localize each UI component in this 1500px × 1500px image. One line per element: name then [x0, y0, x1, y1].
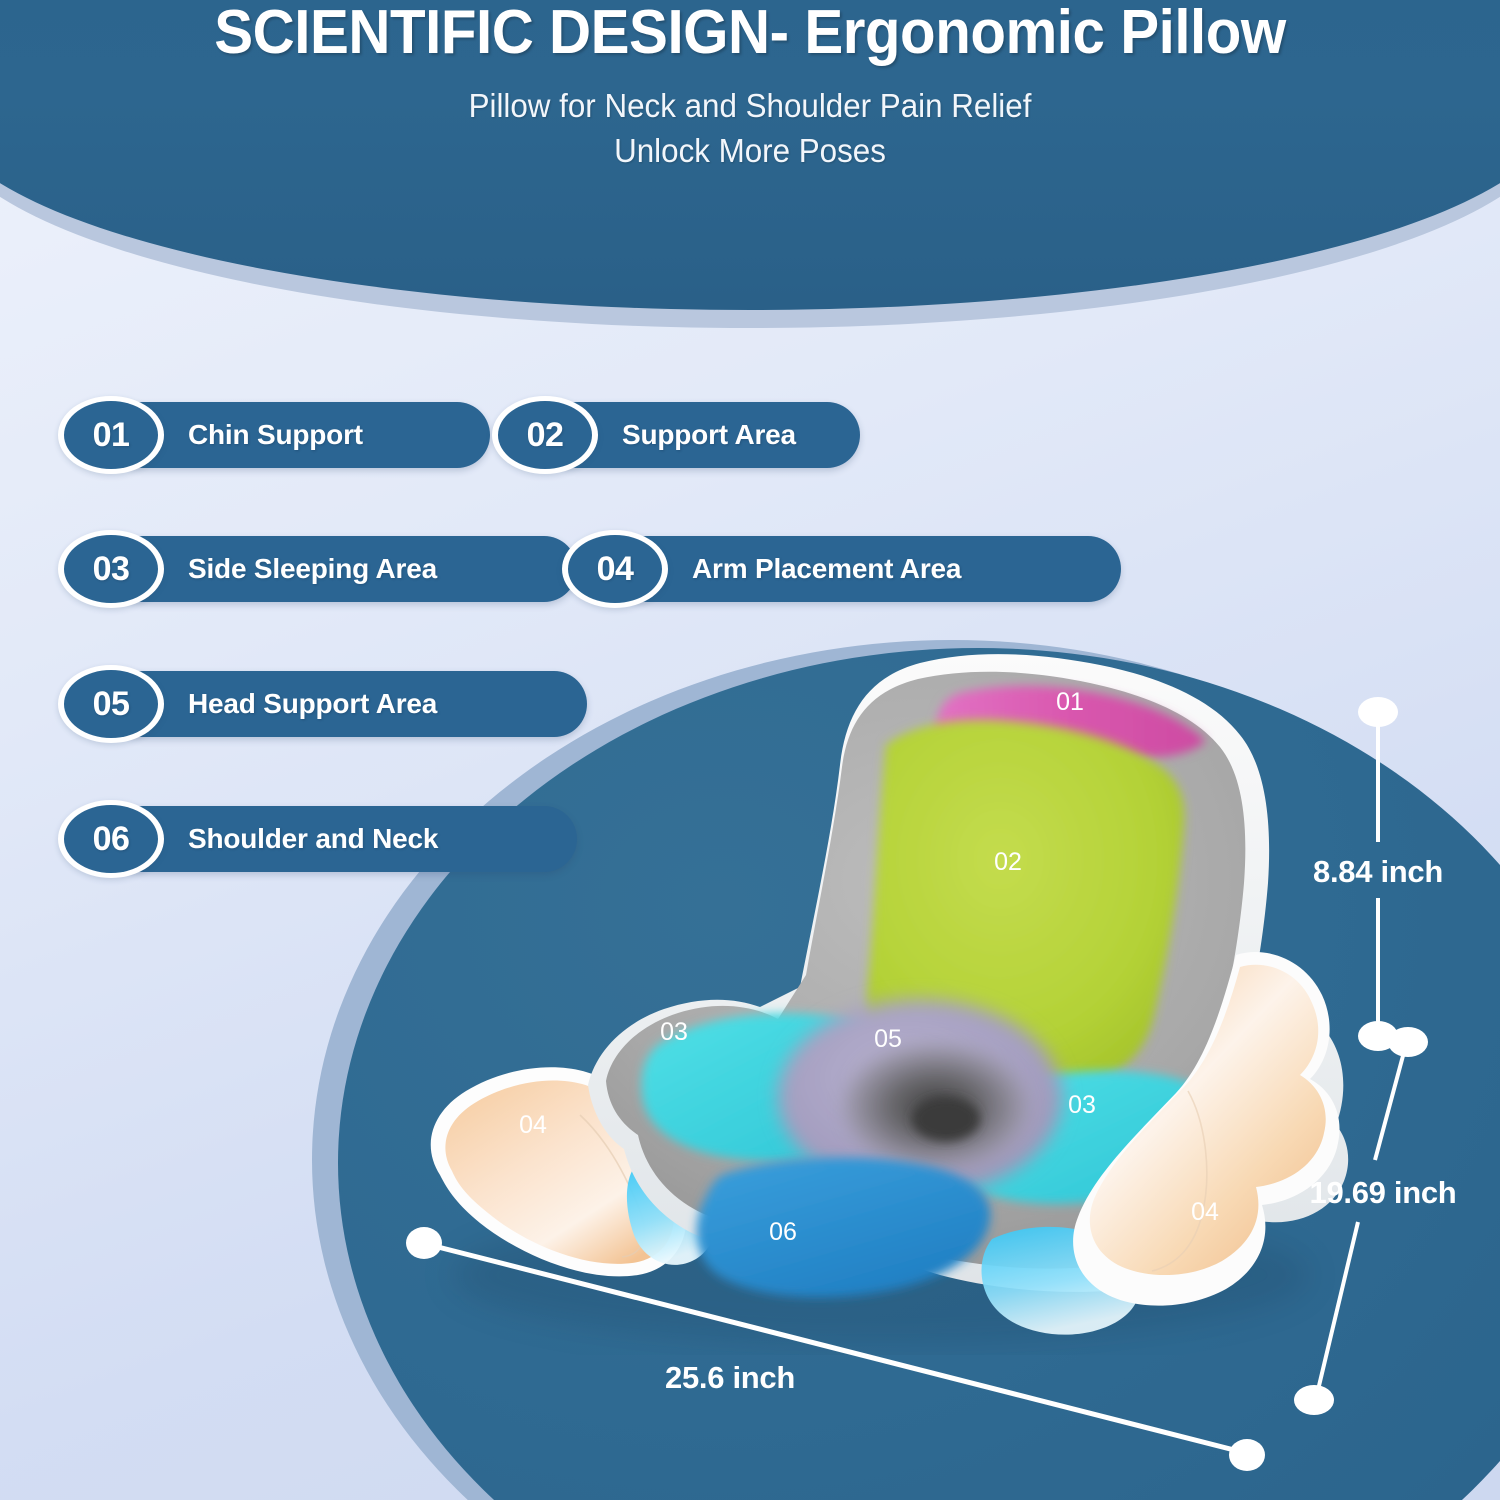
dimension-width: 25.6 inch — [406, 1227, 1265, 1471]
dimension-label-height: 8.84 inch — [1313, 854, 1443, 889]
dimension-label-width: 25.6 inch — [665, 1360, 795, 1395]
dimension-height: 8.84 inch — [1313, 697, 1443, 1051]
dimension-label-depth: 19.69 inch — [1310, 1175, 1457, 1210]
dimension-annotations: 8.84 inch 19.69 inch 25.6 inch — [0, 0, 1500, 1500]
infographic-canvas: SCIENTIFIC DESIGN- Ergonomic Pillow Pill… — [0, 0, 1500, 1500]
dimension-depth: 19.69 inch — [1294, 1027, 1456, 1415]
